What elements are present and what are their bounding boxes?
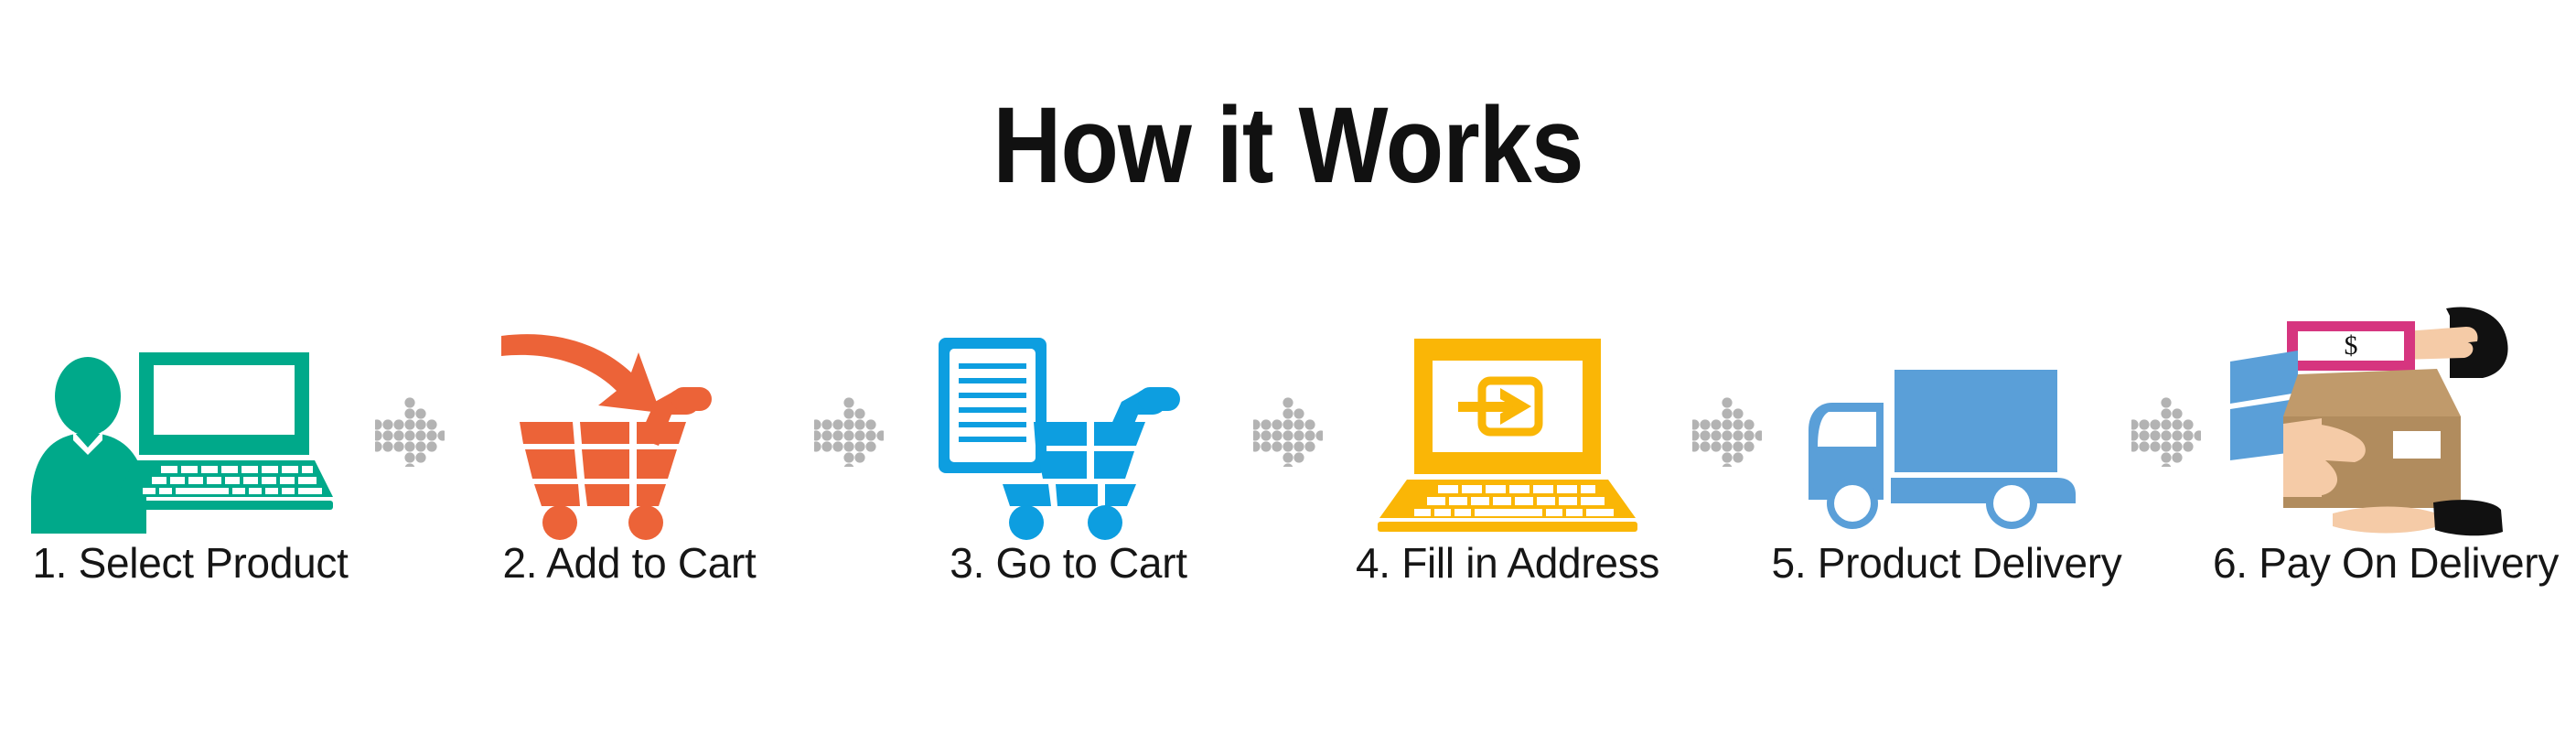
step-3-label: 3. Go to Cart xyxy=(950,541,1186,585)
step-5-label: 5. Product Delivery xyxy=(1772,541,2122,585)
step-6-pay-on-delivery[interactable]: $ 6. Pay On D xyxy=(2203,311,2569,622)
step-4-fill-in-address[interactable]: 4. Fill in Address xyxy=(1325,311,1690,622)
dotted-arrow-right-icon xyxy=(373,311,446,622)
document-with-cart-icon xyxy=(885,311,1251,535)
steps-strip: 1. Select Product xyxy=(0,311,2576,622)
dotted-arrow-right-icon xyxy=(1251,311,1325,622)
laptop-with-login-arrow-icon xyxy=(1325,311,1690,535)
step-1-label: 1. Select Product xyxy=(32,541,348,585)
step-4-label: 4. Fill in Address xyxy=(1356,541,1659,585)
hands-exchanging-box-and-money-icon: $ xyxy=(2203,311,2569,535)
money-dollar-symbol: $ xyxy=(2345,330,2358,361)
step-2-add-to-cart[interactable]: 2. Add to Cart xyxy=(446,311,812,622)
shopping-cart-with-arrow-icon xyxy=(446,311,812,535)
step-6-label: 6. Pay On Delivery xyxy=(2213,541,2559,585)
step-2-label: 2. Add to Cart xyxy=(502,541,756,585)
dotted-arrow-right-icon xyxy=(1690,311,1764,622)
step-3-go-to-cart[interactable]: 3. Go to Cart xyxy=(885,311,1251,622)
step-1-select-product[interactable]: 1. Select Product xyxy=(7,311,373,622)
dotted-arrow-right-icon xyxy=(812,311,885,622)
page-title: How it Works xyxy=(155,92,2421,200)
infographic-root: How it Works xyxy=(0,0,2576,745)
dotted-arrow-right-icon xyxy=(2130,311,2203,622)
delivery-truck-icon xyxy=(1764,311,2130,535)
step-5-product-delivery[interactable]: 5. Product Delivery xyxy=(1764,311,2130,622)
person-with-laptop-icon xyxy=(7,311,373,535)
